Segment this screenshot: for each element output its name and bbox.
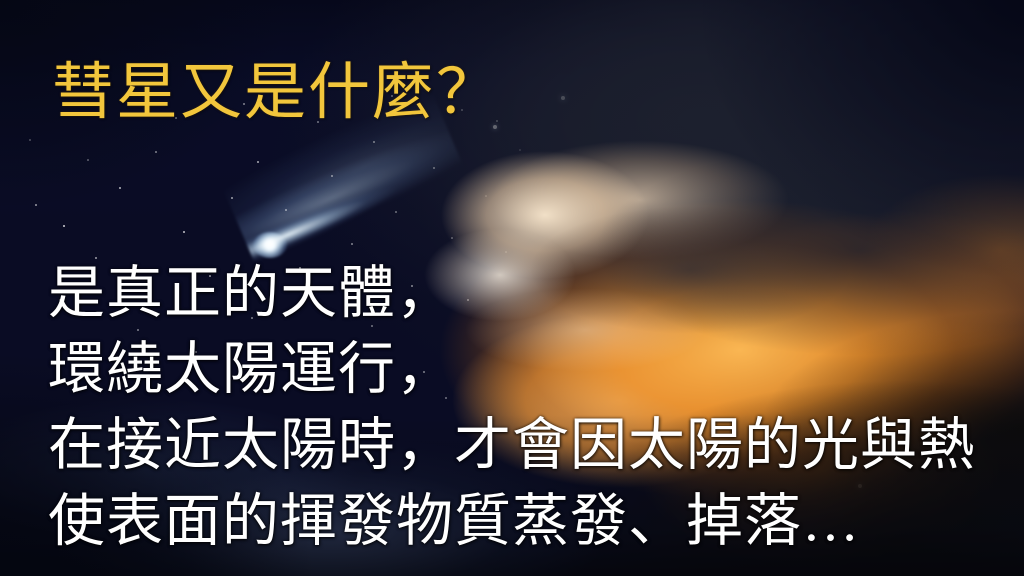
star [351, 243, 353, 245]
star [29, 139, 31, 141]
star [561, 96, 566, 101]
body-line: 使表面的揮發物質蒸發、掉落… [48, 484, 998, 560]
star [519, 149, 521, 151]
slide-title: 彗星又是什麼？ [52, 62, 500, 124]
body-line: 在接近太陽時，才會因太陽的光與熱 [48, 408, 998, 484]
presentation-slide: 彗星又是什麼？ 是真正的天體， 環繞太陽運行， 在接近太陽時，才會因太陽的光與熱… [0, 0, 1024, 576]
star [119, 187, 121, 189]
comet-head [253, 232, 287, 258]
body-line: 是真正的天體， [48, 256, 998, 332]
star [87, 159, 89, 161]
star [485, 195, 487, 197]
star [183, 231, 185, 233]
slide-body: 是真正的天體， 環繞太陽運行， 在接近太陽時，才會因太陽的光與熱 使表面的揮發物… [48, 256, 998, 560]
star [451, 237, 453, 239]
star [35, 204, 37, 206]
body-line: 環繞太陽運行， [48, 332, 998, 408]
star [63, 225, 66, 228]
star [155, 151, 157, 153]
star [505, 251, 507, 253]
